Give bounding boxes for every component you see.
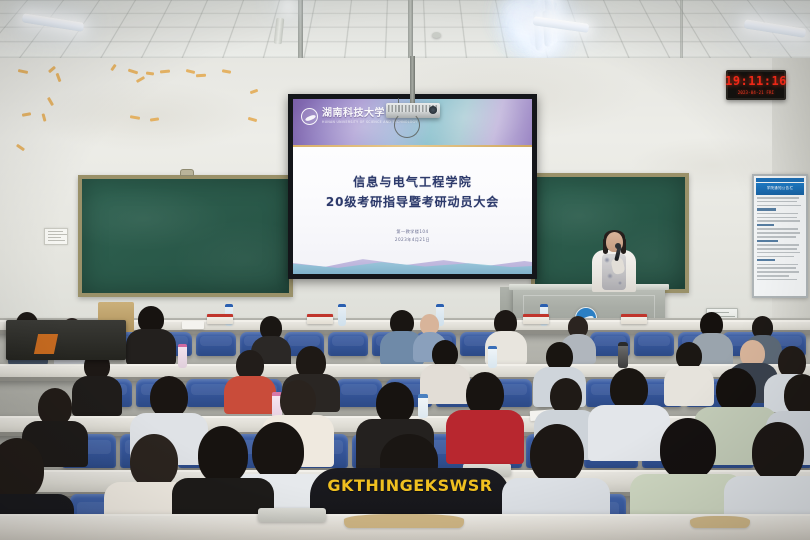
led-wall-clock: 19:11:16 2023-04-21 FRI: [726, 70, 786, 100]
slide-title-line1: 信息与电气工程学院: [353, 173, 472, 192]
ceiling-beam-left: [298, 0, 303, 62]
poster-header: 学院通知公告栏: [756, 183, 804, 195]
smoke-detector-icon: [432, 32, 441, 38]
university-emblem-icon: [301, 108, 318, 125]
tissue-box[interactable]: [207, 314, 233, 324]
cabinet-accent-panel: [34, 334, 58, 354]
ceiling-beam-right: [680, 0, 683, 62]
poster-text-body: [756, 195, 804, 285]
wall-equipment-label: [44, 228, 68, 245]
poster-top-bar: [756, 178, 804, 182]
equipment-cabinet: [6, 320, 126, 360]
ceiling-beam-center: [408, 0, 413, 62]
jacket-text: GKTHINGEKSWSR: [310, 476, 510, 495]
seat[interactable]: [328, 332, 368, 356]
water-bottle[interactable]: [418, 394, 428, 418]
wooden-desk-flap: [690, 516, 750, 528]
slide-footer-graphic: [293, 228, 532, 274]
water-bottle[interactable]: [488, 346, 497, 368]
wooden-desk-flap: [344, 514, 464, 528]
thermos-bottle[interactable]: [618, 342, 628, 368]
water-bottle[interactable]: [178, 344, 187, 368]
tissue-box[interactable]: [621, 314, 647, 324]
chalkboard-clip: [180, 169, 194, 176]
seat[interactable]: [196, 332, 236, 356]
clock-date: 2023-04-21 FRI: [738, 90, 775, 95]
ceiling-tile-grid: [0, 0, 810, 64]
speaker-presenter: [586, 232, 642, 290]
paper-sheet[interactable]: [182, 321, 204, 329]
tissue-box[interactable]: [307, 314, 333, 324]
poster-header-text: 学院通知公告栏: [767, 187, 794, 190]
water-bottle[interactable]: [338, 304, 346, 326]
tissue-box[interactable]: [523, 314, 549, 324]
lecture-hall-photo: 湖南科技大学 HUNAN UNIVERSITY OF SCIENCE AND T…: [0, 0, 810, 540]
projector-lens-icon: [429, 106, 437, 114]
microphone-head-icon: [615, 243, 621, 249]
chalkboard-left: [78, 175, 293, 297]
seat[interactable]: [634, 332, 674, 356]
ceiling: [0, 0, 810, 62]
projector-cable-loop: [394, 112, 420, 138]
clock-time: 19:11:16: [725, 75, 787, 87]
wall-notice-poster: 学院通知公告栏: [752, 174, 808, 298]
laptop[interactable]: [258, 508, 326, 522]
slide-title-line2: 20级考研指导暨考研动员大会: [326, 193, 499, 212]
